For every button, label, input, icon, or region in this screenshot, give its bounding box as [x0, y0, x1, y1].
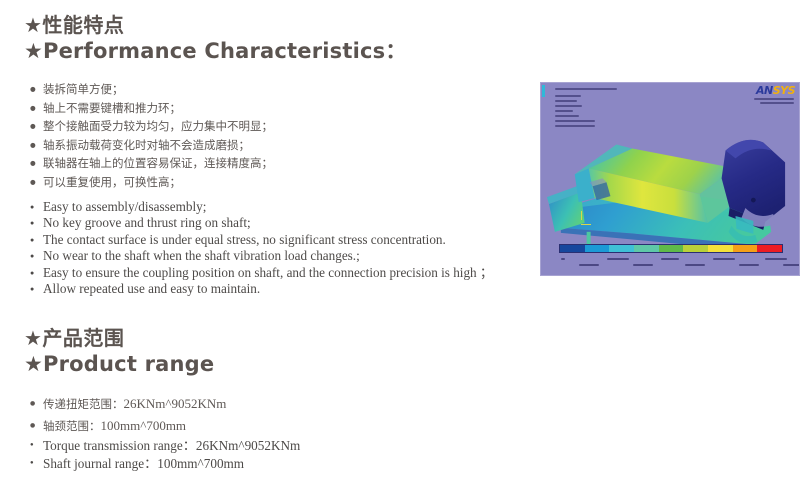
fea-color-legend: [559, 244, 783, 253]
fea-text-line: [555, 125, 595, 127]
legend-tick-label: [579, 264, 599, 266]
fea-text-line: [555, 105, 582, 107]
list-item: Shaft journal range：100mm^700mm: [30, 455, 300, 473]
list-item: The contact surface is under equal stres…: [30, 232, 493, 248]
ansys-logo-sys: SYS: [773, 84, 795, 97]
legend-tick-label: [685, 264, 705, 266]
performance-bullets-en: Easy to assembly/disassembly; No key gro…: [30, 199, 493, 297]
range-label: Shaft journal range：: [43, 456, 157, 471]
range-value: 100mm^700mm: [101, 418, 187, 433]
fea-axis-tripod-icon: [581, 211, 595, 225]
range-label: 轴颈范围：: [43, 419, 101, 433]
product-range-heading-en: ★Product range: [24, 352, 214, 377]
fea-text-line: [760, 102, 794, 104]
ansys-fea-figure: ANSYS: [540, 82, 800, 276]
legend-tick-label: [661, 258, 679, 260]
legend-swatch: [609, 245, 634, 252]
fea-text-line: [754, 98, 794, 100]
legend-tick-label: [739, 264, 759, 266]
fea-text-line: [555, 88, 617, 90]
list-item: 可以重复使用，可换性高；: [30, 173, 273, 192]
list-item: No wear to the shaft when the shaft vibr…: [30, 248, 493, 264]
fea-text-line: [555, 100, 577, 102]
list-item: 轴颈范围：100mm^700mm: [30, 415, 226, 437]
legend-swatch: [659, 245, 684, 252]
legend-tick-label: [633, 264, 653, 266]
fea-text-line: [555, 95, 581, 97]
fea-header-annotation-text: [555, 88, 675, 130]
list-item: 轴上不需要键槽和推力环；: [30, 99, 273, 118]
list-item: 整个接触面受力较为均匀，应力集中不明显；: [30, 117, 273, 136]
legend-tick-label: [783, 264, 800, 266]
performance-bullets-cn: 装拆简单方便； 轴上不需要键槽和推力环； 整个接触面受力较为均匀，应力集中不明显…: [30, 80, 273, 192]
legend-tick-label: [607, 258, 629, 260]
legend-tick-label: [765, 258, 787, 260]
legend-swatch: [683, 245, 708, 252]
product-range-list-en: Torque transmission range：26KNm^9052KNm …: [30, 437, 300, 472]
legend-tick-label: [561, 258, 565, 260]
legend-swatch: [585, 245, 610, 252]
legend-swatch: [733, 245, 758, 252]
fea-text-line: [555, 120, 595, 122]
list-item: Easy to assembly/disassembly;: [30, 199, 493, 215]
range-value: 100mm^700mm: [157, 456, 244, 471]
range-value: 26KNm^9052KNm: [196, 438, 300, 453]
performance-heading-cn: ★性能特点: [24, 14, 407, 37]
list-item: 传递扭矩范围：26KNm^9052KNm: [30, 393, 226, 415]
list-item: Allow repeated use and easy to maintain.: [30, 281, 493, 297]
legend-swatch: [560, 245, 585, 252]
legend-swatch: [634, 245, 659, 252]
fea-legend-tick-labels: [557, 257, 793, 271]
list-item: Easy to ensure the coupling position on …: [30, 265, 493, 281]
fea-text-line: [555, 110, 573, 112]
fea-text-line: [555, 115, 579, 117]
range-label: Torque transmission range：: [43, 438, 196, 453]
list-item: 装拆简单方便；: [30, 80, 273, 99]
fea-date-stamp-text: [748, 98, 794, 106]
product-range-list-cn: 传递扭矩范围：26KNm^9052KNm 轴颈范围：100mm^700mm: [30, 393, 226, 437]
product-range-heading-block: ★产品范围 ★Product range: [24, 327, 214, 377]
list-item: 轴系振动载荷变化时对轴不会造成磨损；: [30, 136, 273, 155]
ansys-logo: ANSYS: [756, 85, 795, 96]
legend-tick-label: [713, 258, 735, 260]
list-item: 联轴器在轴上的位置容易保证，连接精度高；: [30, 154, 273, 173]
performance-heading-block: ★性能特点 ★Performance Characteristics：: [24, 14, 407, 64]
range-value: 26KNm^9052KNm: [124, 396, 227, 411]
range-label: 传递扭矩范围：: [43, 397, 124, 411]
list-item: No key groove and thrust ring on shaft;: [30, 215, 493, 231]
product-range-heading-cn: ★产品范围: [24, 327, 214, 350]
legend-swatch: [757, 245, 782, 252]
list-item: Torque transmission range：26KNm^9052KNm: [30, 437, 300, 455]
legend-swatch: [708, 245, 733, 252]
fea-edge-marker: [542, 85, 545, 97]
ansys-logo-an: AN: [756, 84, 773, 97]
performance-heading-en: ★Performance Characteristics：: [24, 39, 407, 64]
